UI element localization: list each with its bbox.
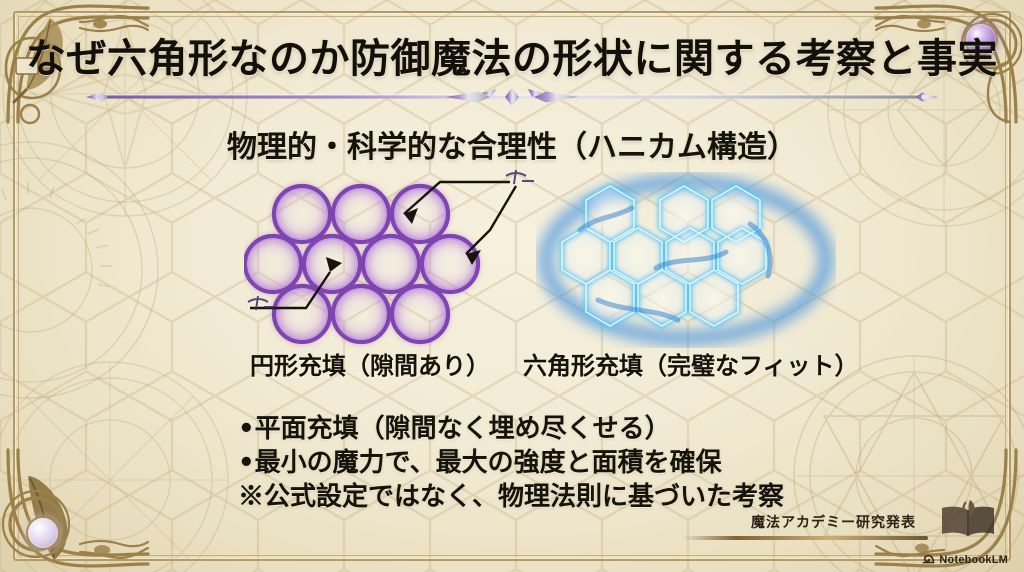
section-subtitle: 物理的・科学的な合理性（ハニカム構造） — [0, 122, 1024, 166]
hexagon-tiling-diagram — [536, 172, 836, 348]
page-title: なぜ六角形なのか防御魔法の形状に関する考察と事実 — [0, 26, 1024, 84]
notebooklm-brand: NotebookLM — [922, 553, 1008, 566]
book-quill-icon — [930, 498, 1006, 542]
caption-circle-packing: 円形充填（隙間あり） — [250, 346, 490, 381]
bullet-item-2: •最小の魔力で、最大の強度と面積を確保 — [238, 446, 784, 480]
diagram-captions: 円形充填（隙間あり） 六角形充填（完璧なフィット） — [0, 346, 1024, 380]
diagram-row — [0, 168, 1024, 348]
gem-orb-bottom-left — [26, 516, 60, 550]
notebooklm-label: NotebookLM — [939, 554, 1008, 566]
slide-root: なぜ六角形なのか防御魔法の形状に関する考察と事実 — [0, 0, 1024, 572]
title-divider — [86, 86, 938, 108]
bullet-list: •平面充填（隙間なく埋め尽くせる） •最小の魔力で、最大の強度と面積を確保 ※公… — [238, 412, 784, 514]
bullet-item-3: ※公式設定ではなく、物理法則に基づいた考察 — [238, 480, 784, 514]
footer-label: 魔法アカデミー研究発表 — [751, 512, 916, 532]
circle-packing-diagram — [244, 168, 544, 348]
quill-feather-icon — [28, 476, 67, 560]
caption-hexagon-tiling: 六角形充填（完璧なフィット） — [523, 346, 859, 381]
bullet-item-1: •平面充填（隙間なく埋め尽くせる） — [238, 412, 784, 446]
corner-ornament-bottom-left — [2, 444, 152, 570]
squiggle-label-right — [506, 170, 534, 184]
spiral-icon — [922, 553, 935, 566]
footer-rule — [682, 536, 928, 540]
